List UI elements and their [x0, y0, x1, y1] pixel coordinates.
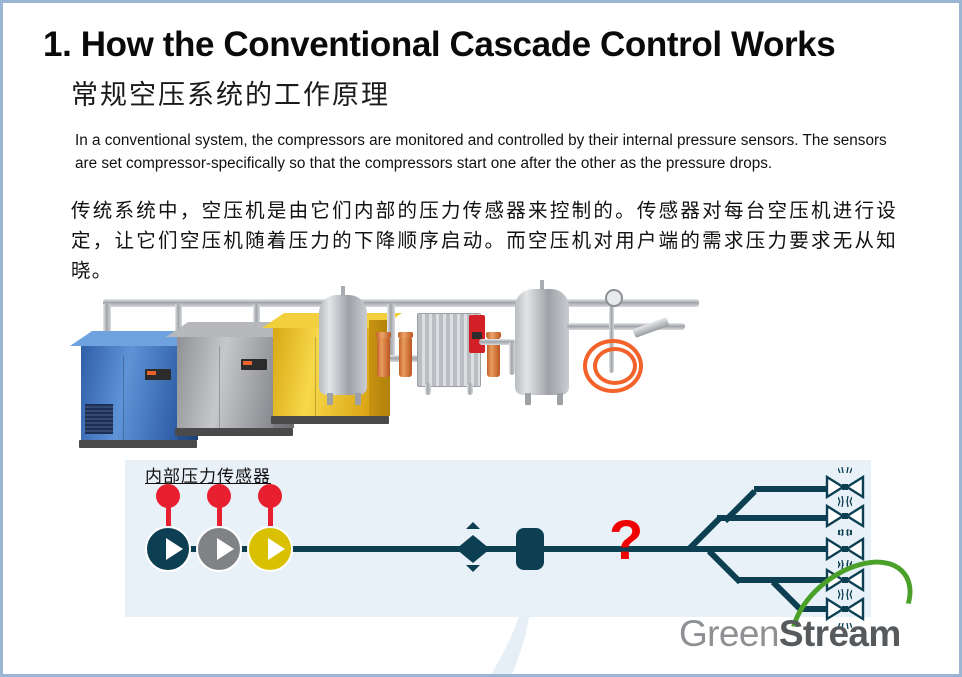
air-receiver-tank-1 [319, 295, 367, 395]
system-schematic-panel: 内部压力传感器 ? [125, 460, 871, 617]
compressor-body-gray [177, 335, 273, 428]
unknown-demand-question-mark: ? [609, 512, 643, 568]
play-triangle-2 [217, 538, 234, 560]
logo-text-stream: Stream [779, 613, 901, 654]
tank-leg-1b [355, 393, 361, 405]
tank-leg-2b [557, 393, 563, 405]
pressure-sensor-dot-3 [258, 484, 282, 508]
compressor-unit-gray [177, 335, 273, 428]
dryer-leg-2 [467, 383, 473, 395]
nozzle-bowtie-icon-2 [825, 503, 865, 529]
compressor-control-panel-gray [241, 359, 267, 370]
nozzle-bowtie-icon-3 [825, 536, 865, 562]
air-hose-coil-inner [593, 347, 637, 385]
compressor-control-panel-blue [145, 369, 171, 380]
compressor-base-blue [79, 440, 197, 448]
slide-canvas: 1. How the Conventional Cascade Control … [0, 0, 962, 677]
outlet-nozzle-3 [825, 536, 865, 562]
compressor-seam-gray [219, 346, 220, 428]
branch-horizontal-up-1 [717, 515, 837, 521]
nozzle-spray-icon-3 [838, 529, 852, 536]
internal-pressure-sensor-label: 内部压力传感器 [145, 462, 271, 487]
compressor-node-2 [196, 526, 242, 572]
nozzle-spray-icon-1 [838, 467, 852, 474]
air-gun [633, 317, 670, 338]
compressor-unit-blue [81, 344, 177, 440]
compressor-vent-blue [85, 404, 113, 434]
logo-text-green: Green [679, 613, 779, 654]
pressure-sensor-dot-1 [156, 484, 180, 508]
tank-leg-2a [525, 393, 531, 405]
nozzle-spray-icon-2 [838, 496, 852, 503]
compressor-base-yellow [271, 416, 389, 424]
greenstream-logo: GreenStream [679, 613, 901, 655]
page-title: 1. How the Conventional Cascade Control … [43, 25, 835, 65]
outlet-nozzle-2 [825, 503, 865, 529]
filter-vent-arrow-up [466, 522, 480, 529]
air-receiver-tank-2 [515, 289, 569, 395]
page-subtitle: 常规空压系统的工作原理 [71, 73, 390, 112]
compressor-seam-yellow [315, 337, 316, 416]
compressor-node-3 [247, 526, 293, 572]
compressor-node-1 [145, 526, 191, 572]
air-filter-2 [399, 337, 412, 377]
pressure-sensor-dot-2 [207, 484, 231, 508]
play-triangle-1 [166, 538, 183, 560]
pressure-gauge [605, 289, 623, 307]
compressor-base-gray [175, 428, 293, 436]
branch-diagonal-down-1 [707, 549, 742, 584]
air-filter-1 [377, 337, 390, 377]
compressor-seam-blue [123, 356, 124, 440]
receiver-tank-symbol [516, 528, 544, 570]
inline-filter-diamond [456, 535, 490, 563]
filter-drain-arrow-down [466, 565, 480, 572]
play-triangle-3 [268, 538, 285, 560]
tank-leg-1a [327, 393, 333, 405]
dryer-control-panel [469, 315, 485, 353]
compressor-room-photo [81, 281, 681, 446]
body-text-english: In a conventional system, the compressor… [75, 129, 895, 175]
dryer-leg-1 [425, 383, 431, 395]
body-text-chinese: 传统系统中，空压机是由它们内部的压力传感器来控制的。传感器对每台空压机进行设定，… [71, 197, 897, 287]
